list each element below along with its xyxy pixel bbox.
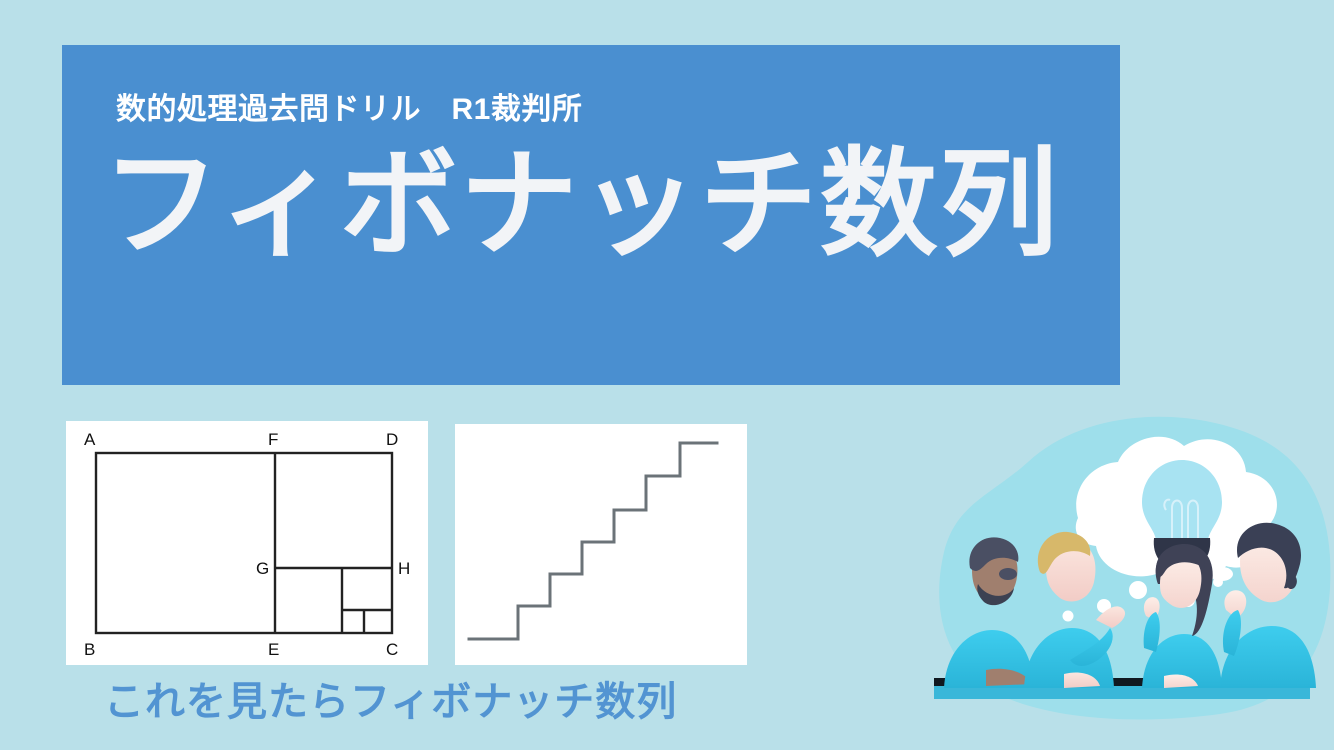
staircase-svg <box>455 424 747 665</box>
golden-rectangle-svg: A F D G H B E C <box>66 421 428 665</box>
vertex-label-a: A <box>84 430 96 449</box>
vertex-label-h: H <box>398 559 410 578</box>
rectangle-lines <box>96 453 392 633</box>
title-banner: 数的処理過去問ドリル R1裁判所 フィボナッチ数列 <box>62 45 1120 385</box>
vertex-label-e: E <box>268 640 279 659</box>
banner-title: フィボナッチ数列 <box>102 130 1060 281</box>
banner-subtitle: 数的処理過去問ドリル R1裁判所 <box>116 95 582 125</box>
bottom-caption: これを見たらフィボナッチ数列 <box>104 678 677 726</box>
vertex-label-c: C <box>386 640 398 659</box>
thumbnail-canvas: 数的処理過去問ドリル R1裁判所 フィボナッチ数列 A F <box>0 0 1334 750</box>
vertex-label-b: B <box>84 640 95 659</box>
group-thinking-illustration <box>920 398 1334 750</box>
staircase-card <box>455 424 747 665</box>
staircase-path <box>469 443 717 639</box>
vertex-label-f: F <box>268 430 278 449</box>
vertex-label-d: D <box>386 430 398 449</box>
golden-rectangle-card: A F D G H B E C <box>66 421 428 665</box>
vertex-label-g: G <box>256 559 269 578</box>
vertex-label-group: A F D G H B E C <box>84 430 410 659</box>
